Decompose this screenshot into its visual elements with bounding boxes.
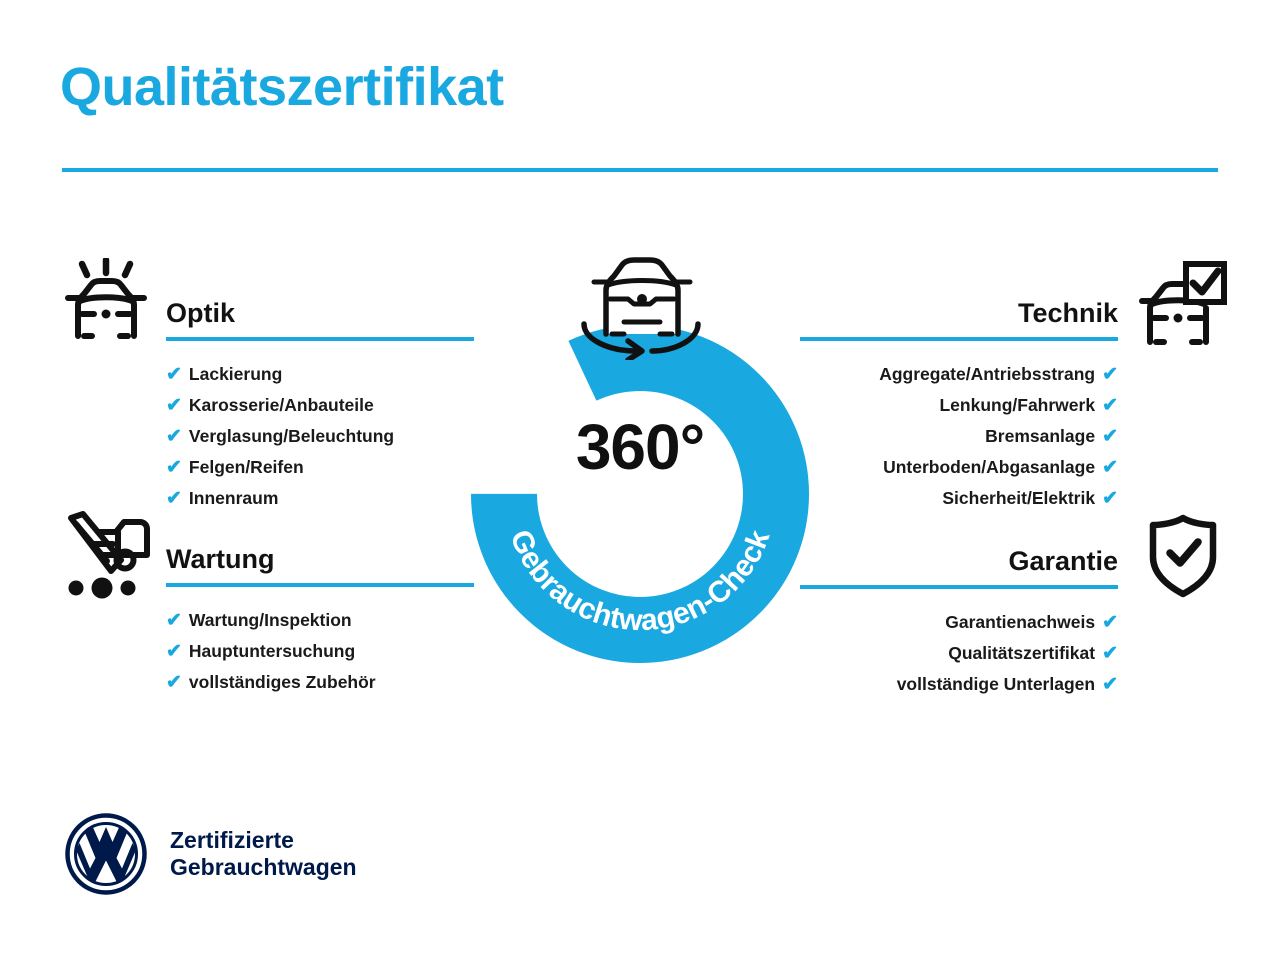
section-list-technik: Aggregate/Antriebsstrang✔ Lenkung/Fahrwe… xyxy=(800,359,1118,514)
footer-branding: Zertifizierte Gebrauchtwagen xyxy=(64,812,357,896)
list-item-label: Hauptuntersuchung xyxy=(189,641,355,661)
section-divider-optik xyxy=(166,337,474,341)
check-icon: ✔ xyxy=(1102,360,1118,390)
section-list-wartung: ✔Wartung/Inspektion ✔Hauptuntersuchung ✔… xyxy=(166,605,474,698)
check-icon: ✔ xyxy=(1102,484,1118,514)
footer-line-2: Gebrauchtwagen xyxy=(170,854,357,881)
check-icon: ✔ xyxy=(1102,453,1118,483)
badge-360-check: Gebrauchtwagen-Check xyxy=(466,320,814,668)
list-item: ✔Karosserie/Anbauteile xyxy=(166,390,474,421)
car-checkbox-icon xyxy=(1136,258,1228,355)
list-item: ✔Verglasung/Beleuchtung xyxy=(166,421,474,452)
header-divider xyxy=(62,168,1218,172)
check-icon: ✔ xyxy=(166,668,182,698)
badge-number: 360° xyxy=(466,415,814,479)
list-item-label: vollständige Unterlagen xyxy=(897,674,1095,694)
list-item-label: Qualitätszertifikat xyxy=(948,643,1095,663)
list-item: Sicherheit/Elektrik✔ xyxy=(800,483,1118,514)
list-item: ✔Wartung/Inspektion xyxy=(166,605,474,636)
certificate-page: Qualitätszertifikat Optik xyxy=(0,0,1280,960)
list-item-label: Lackierung xyxy=(189,364,282,384)
footer-line-1: Zertifizierte xyxy=(170,827,357,854)
volkswagen-logo xyxy=(64,812,148,896)
list-item: ✔Hauptuntersuchung xyxy=(166,636,474,667)
list-item: ✔Innenraum xyxy=(166,483,474,514)
list-item: vollständige Unterlagen✔ xyxy=(800,669,1118,700)
section-list-garantie: Garantienachweis✔ Qualitätszertifikat✔ v… xyxy=(800,607,1118,700)
list-item: Lenkung/Fahrwerk✔ xyxy=(800,390,1118,421)
list-item-label: Verglasung/Beleuchtung xyxy=(189,426,394,446)
check-icon: ✔ xyxy=(1102,422,1118,452)
check-icon: ✔ xyxy=(1102,391,1118,421)
section-heading-optik: Optik xyxy=(166,300,474,337)
section-heading-garantie: Garantie xyxy=(800,548,1118,585)
list-item: ✔Felgen/Reifen xyxy=(166,452,474,483)
section-divider-garantie xyxy=(800,585,1118,589)
section-optik: Optik ✔Lackierung ✔Karosserie/Anbauteile… xyxy=(166,300,474,514)
list-item-label: Felgen/Reifen xyxy=(189,457,304,477)
section-heading-wartung: Wartung xyxy=(166,546,474,583)
section-technik: Technik Aggregate/Antriebsstrang✔ Lenkun… xyxy=(800,300,1118,514)
list-item: Garantienachweis✔ xyxy=(800,607,1118,638)
list-item-label: Innenraum xyxy=(189,488,278,508)
list-item-label: Aggregate/Antriebsstrang xyxy=(879,364,1095,384)
check-icon: ✔ xyxy=(166,360,182,390)
section-heading-technik: Technik xyxy=(800,300,1118,337)
footer-text: Zertifizierte Gebrauchtwagen xyxy=(170,827,357,881)
list-item-label: Sicherheit/Elektrik xyxy=(942,488,1095,508)
list-item-label: Unterboden/Abgasanlage xyxy=(883,457,1095,477)
section-list-optik: ✔Lackierung ✔Karosserie/Anbauteile ✔Verg… xyxy=(166,359,474,514)
car-shine-icon xyxy=(60,258,152,355)
check-icon: ✔ xyxy=(1102,670,1118,700)
check-icon: ✔ xyxy=(166,484,182,514)
check-icon: ✔ xyxy=(166,606,182,636)
list-item: Qualitätszertifikat✔ xyxy=(800,638,1118,669)
section-divider-technik xyxy=(800,337,1118,341)
list-item-label: Wartung/Inspektion xyxy=(189,610,352,630)
list-item-label: Lenkung/Fahrwerk xyxy=(939,395,1095,415)
check-icon: ✔ xyxy=(166,422,182,452)
page-title: Qualitätszertifikat xyxy=(60,58,504,117)
shield-check-icon xyxy=(1146,514,1220,603)
list-item: ✔vollständiges Zubehör xyxy=(166,667,474,698)
list-item-label: vollständiges Zubehör xyxy=(189,672,376,692)
check-icon: ✔ xyxy=(1102,608,1118,638)
car-service-pen-icon xyxy=(58,508,154,607)
check-icon: ✔ xyxy=(166,391,182,421)
list-item: ✔Lackierung xyxy=(166,359,474,390)
list-item-label: Bremsanlage xyxy=(985,426,1095,446)
list-item: Bremsanlage✔ xyxy=(800,421,1118,452)
check-icon: ✔ xyxy=(166,453,182,483)
section-garantie: Garantie Garantienachweis✔ Qualitätszert… xyxy=(800,548,1118,700)
list-item-label: Garantienachweis xyxy=(945,612,1095,632)
list-item: Aggregate/Antriebsstrang✔ xyxy=(800,359,1118,390)
list-item: Unterboden/Abgasanlage✔ xyxy=(800,452,1118,483)
section-wartung: Wartung ✔Wartung/Inspektion ✔Hauptunters… xyxy=(166,546,474,698)
check-icon: ✔ xyxy=(166,637,182,667)
car-rotate-icon xyxy=(566,252,716,360)
check-icon: ✔ xyxy=(1102,639,1118,669)
list-item-label: Karosserie/Anbauteile xyxy=(189,395,374,415)
section-divider-wartung xyxy=(166,583,474,587)
